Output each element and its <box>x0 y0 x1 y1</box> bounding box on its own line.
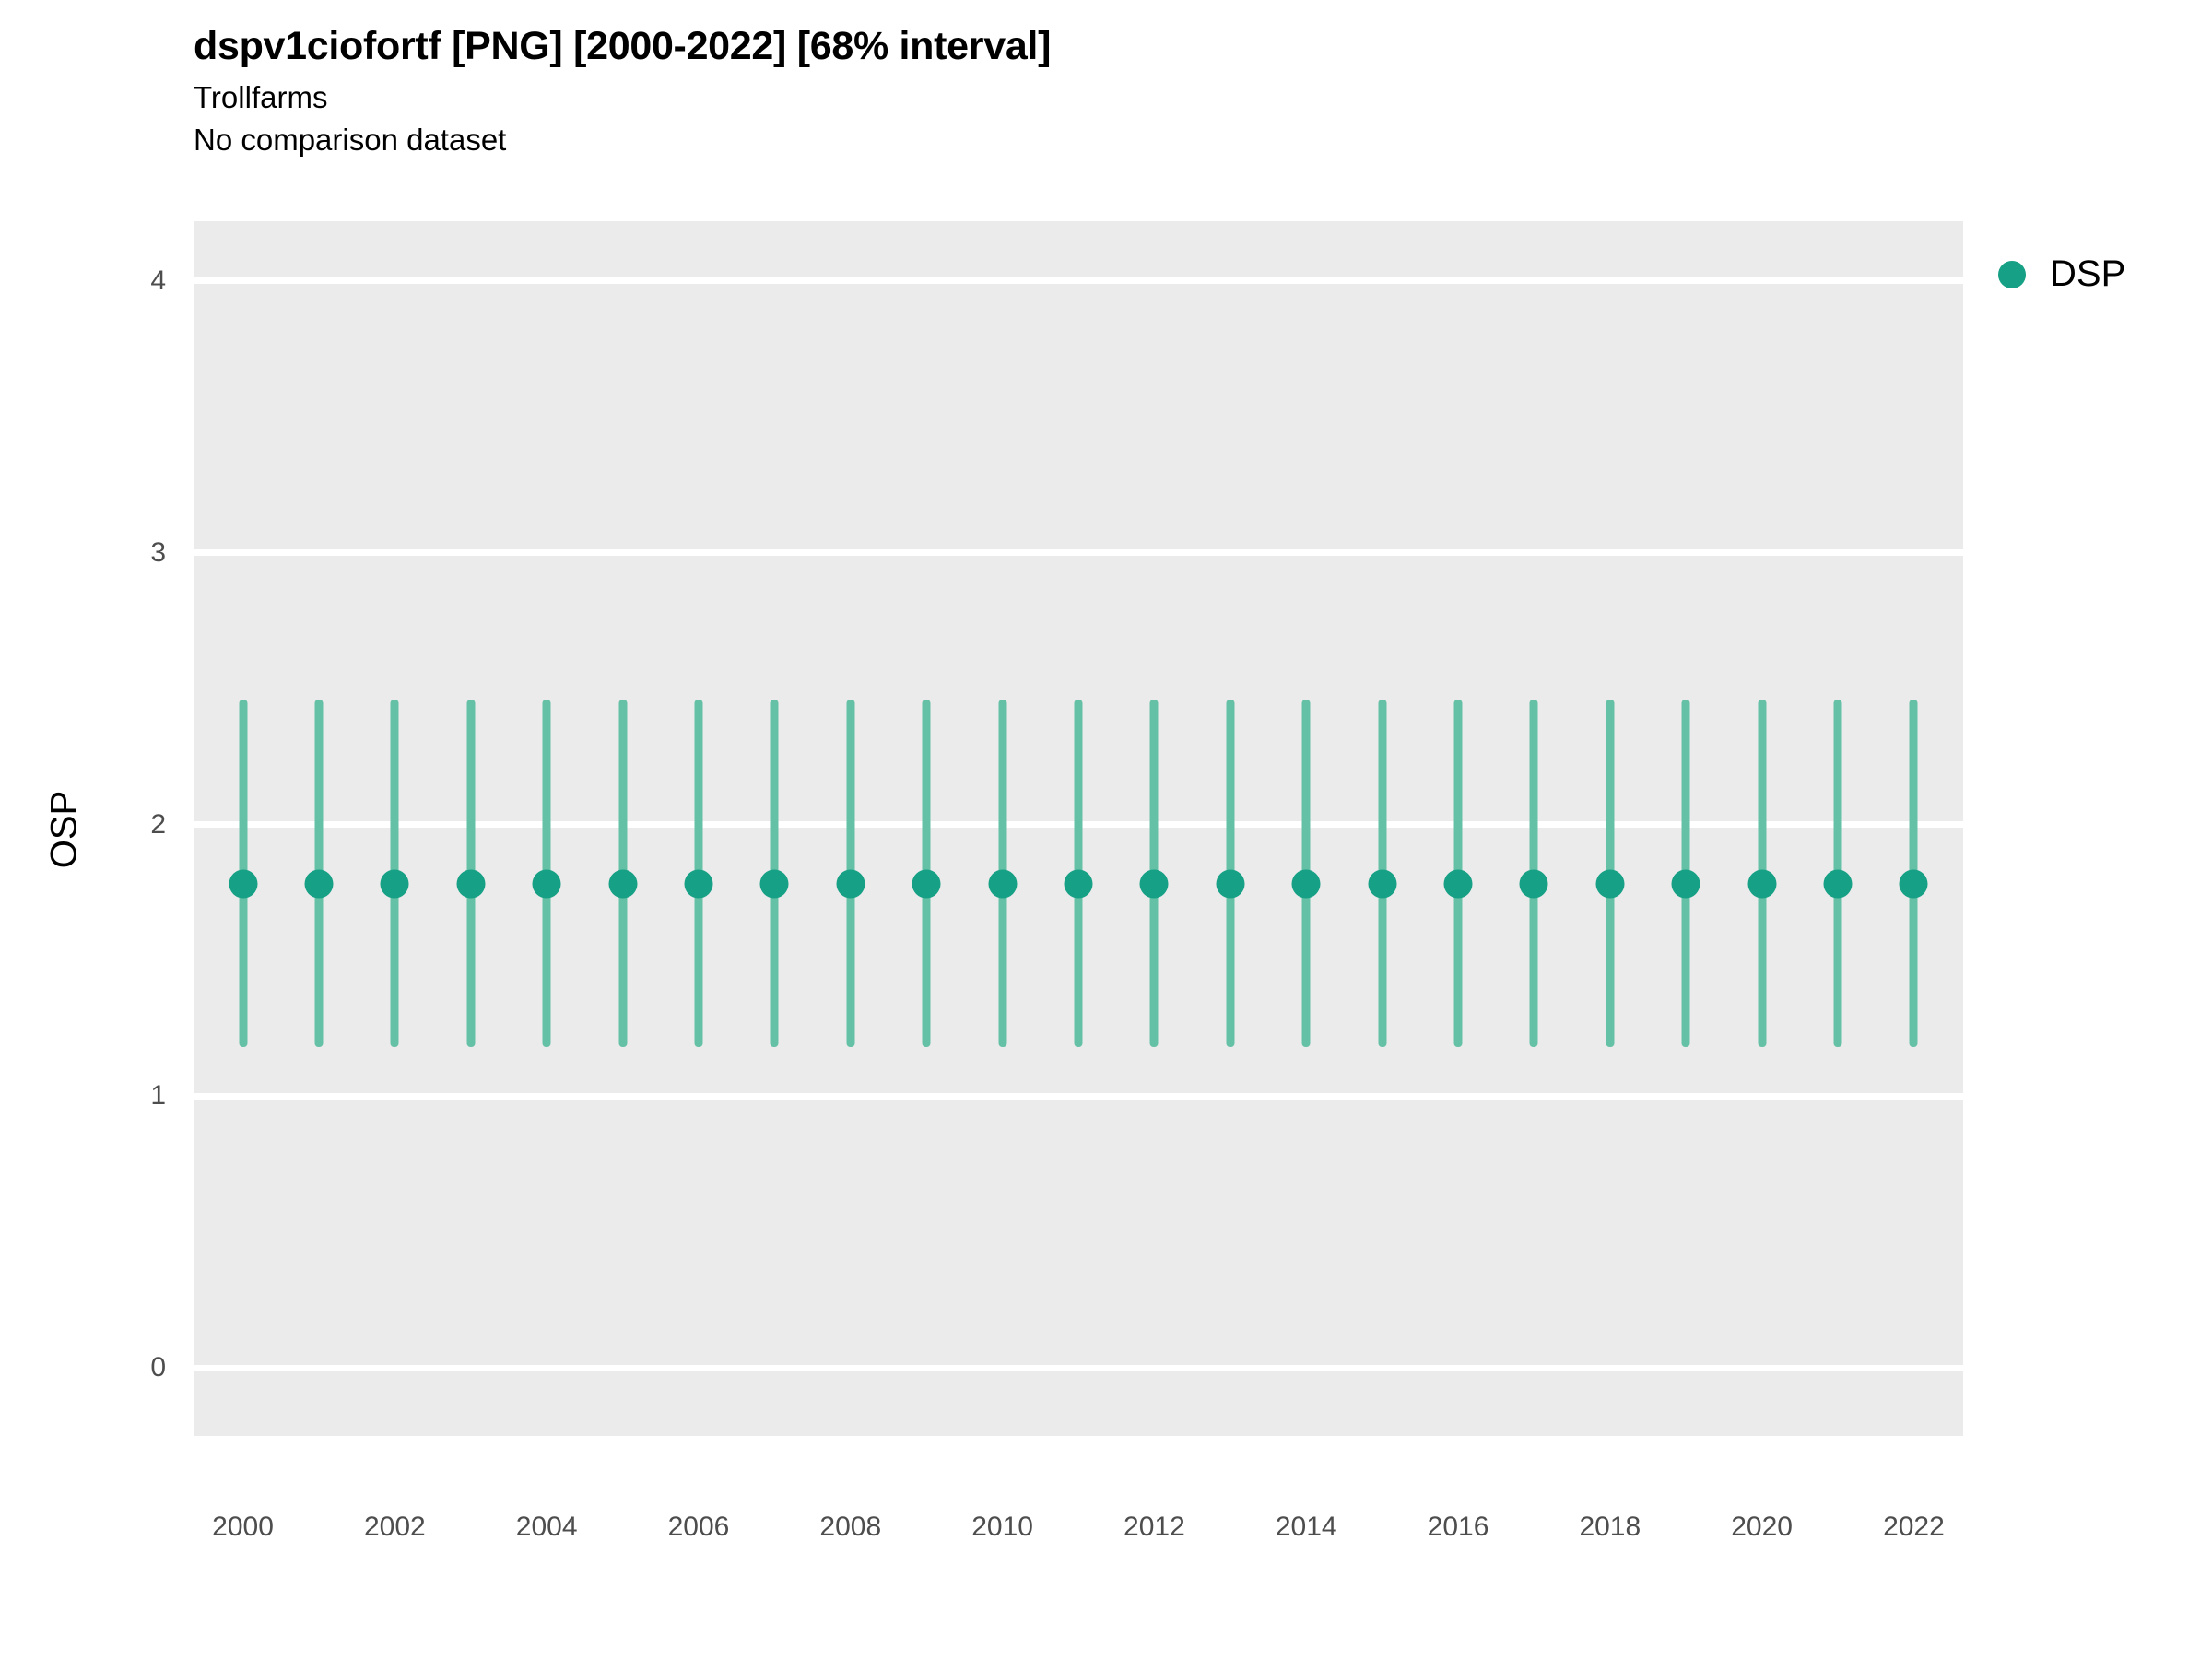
x-tick-label-2012: 2012 <box>1124 1512 1185 1543</box>
page-title: dspv1ciofortf [PNG] [2000-2022] [68% int… <box>194 24 1945 68</box>
chart-caption: No comparison dataset <box>194 122 1945 159</box>
x-axis-ticks: 2000200220042006200820102012201420162018… <box>194 1512 1963 1558</box>
y-tick-label-4: 4 <box>111 265 166 297</box>
x-tick-label-2002: 2002 <box>364 1512 426 1543</box>
data-point[interactable] <box>1216 870 1244 899</box>
data-point[interactable] <box>229 870 257 899</box>
data-point[interactable] <box>988 870 1017 899</box>
data-point[interactable] <box>304 870 333 899</box>
chart-subtitle: Trollfarms <box>194 79 1945 116</box>
y-tick-label-0: 0 <box>111 1352 166 1383</box>
x-tick-label-2006: 2006 <box>668 1512 730 1543</box>
gridline-y-0 <box>194 1365 1963 1371</box>
y-axis-ticks: 01234 <box>101 221 166 1436</box>
x-tick-label-2020: 2020 <box>1731 1512 1793 1543</box>
data-point[interactable] <box>1065 870 1093 899</box>
data-point[interactable] <box>1747 870 1776 899</box>
data-point[interactable] <box>684 870 712 899</box>
x-tick-label-2008: 2008 <box>819 1512 881 1543</box>
y-tick-label-2: 2 <box>111 809 166 841</box>
x-tick-label-2000: 2000 <box>212 1512 274 1543</box>
y-tick-label-1: 1 <box>111 1080 166 1112</box>
gridline-y-1 <box>194 1093 1963 1100</box>
data-point[interactable] <box>533 870 561 899</box>
data-point[interactable] <box>1900 870 1928 899</box>
y-axis-title: OSP <box>44 791 86 868</box>
data-point[interactable] <box>608 870 637 899</box>
x-tick-label-2016: 2016 <box>1428 1512 1489 1543</box>
legend: DSP <box>1998 253 2125 295</box>
gridline-y-3 <box>194 549 1963 556</box>
gridline-y-4 <box>194 277 1963 284</box>
plot-panel <box>194 221 1963 1436</box>
data-point[interactable] <box>1672 870 1700 899</box>
x-tick-label-2004: 2004 <box>516 1512 578 1543</box>
data-point[interactable] <box>381 870 409 899</box>
data-point[interactable] <box>1595 870 1624 899</box>
data-point[interactable] <box>912 870 941 899</box>
x-tick-label-2022: 2022 <box>1883 1512 1945 1543</box>
data-point[interactable] <box>456 870 485 899</box>
x-tick-label-2010: 2010 <box>971 1512 1033 1543</box>
data-point[interactable] <box>1444 870 1473 899</box>
data-point[interactable] <box>836 870 865 899</box>
x-tick-label-2018: 2018 <box>1579 1512 1641 1543</box>
y-tick-label-3: 3 <box>111 537 166 569</box>
data-point[interactable] <box>1824 870 1853 899</box>
data-point[interactable] <box>1292 870 1321 899</box>
data-point[interactable] <box>760 870 789 899</box>
data-point[interactable] <box>1520 870 1548 899</box>
legend-circle-icon <box>1998 261 2026 288</box>
chart-header: dspv1ciofortf [PNG] [2000-2022] [68% int… <box>194 24 1945 158</box>
x-tick-label-2014: 2014 <box>1276 1512 1337 1543</box>
legend-item-label: DSP <box>2050 253 2125 295</box>
data-point[interactable] <box>1140 870 1169 899</box>
data-point[interactable] <box>1368 870 1396 899</box>
